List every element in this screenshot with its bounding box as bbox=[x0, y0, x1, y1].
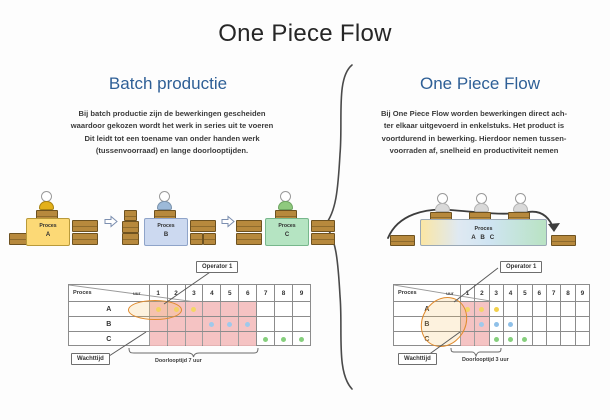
table-cell[interactable] bbox=[489, 317, 503, 331]
left-panel-paragraph: Bij batch productie zijn de bewerkingen … bbox=[22, 108, 322, 157]
cell-dot-marker bbox=[209, 322, 214, 327]
cell-dot-marker bbox=[227, 322, 232, 327]
table-column-header-8: 8 bbox=[274, 285, 292, 301]
table-cell[interactable] bbox=[517, 317, 531, 331]
crate-icon bbox=[203, 233, 216, 245]
cell-dot-marker bbox=[494, 337, 499, 342]
cell-dot-marker bbox=[299, 337, 304, 342]
process-box-a: Proces A bbox=[26, 218, 70, 246]
table-column-header-6: 6 bbox=[238, 285, 256, 301]
process-box-abc-label: Proces bbox=[475, 226, 493, 232]
table-column-header-7: 7 bbox=[256, 285, 274, 301]
table-cell[interactable] bbox=[532, 332, 546, 346]
table-cell[interactable] bbox=[532, 317, 546, 331]
right-paragraph-line-4: voorraden af, snelheid en productiviteit… bbox=[358, 145, 590, 157]
table-column-header-9: 9 bbox=[575, 285, 589, 301]
table-cell[interactable] bbox=[560, 317, 574, 331]
table-cell[interactable] bbox=[202, 332, 220, 346]
table-cell[interactable] bbox=[256, 302, 274, 316]
table-cell[interactable] bbox=[503, 317, 517, 331]
table-column-header-5: 5 bbox=[220, 285, 238, 301]
crate-icon bbox=[236, 233, 262, 245]
table-cell[interactable] bbox=[292, 332, 310, 346]
table-cell[interactable] bbox=[256, 332, 274, 346]
cell-dot-marker bbox=[245, 322, 250, 327]
cell-dot-marker bbox=[494, 307, 499, 312]
table-cell[interactable] bbox=[474, 332, 488, 346]
table-cell[interactable] bbox=[532, 302, 546, 316]
table-cell[interactable] bbox=[575, 317, 589, 331]
table-cell[interactable] bbox=[274, 302, 292, 316]
table-column-header-4: 4 bbox=[503, 285, 517, 301]
page-title: One Piece Flow bbox=[0, 20, 610, 48]
table-cell[interactable] bbox=[238, 332, 256, 346]
left-wachttijd-callout[interactable]: Wachttijd bbox=[71, 353, 110, 365]
crate-icon bbox=[72, 220, 98, 232]
table-cell[interactable] bbox=[292, 317, 310, 331]
table-column-header-7: 7 bbox=[546, 285, 560, 301]
table-cell[interactable] bbox=[575, 302, 589, 316]
left-operator-callout[interactable]: Operator 1 bbox=[196, 261, 238, 273]
table-cell[interactable] bbox=[560, 332, 574, 346]
left-paragraph-line-2: waardoor gekozen wordt het werk in serie… bbox=[22, 120, 322, 132]
crate-icon bbox=[190, 233, 203, 245]
cell-dot-marker bbox=[508, 322, 513, 327]
slide-canvas: One Piece Flow Batch productie Bij batch… bbox=[0, 0, 610, 420]
cell-dot-marker bbox=[479, 307, 484, 312]
worker-body-icon bbox=[278, 201, 293, 210]
worker-body-icon bbox=[435, 203, 450, 212]
process-box-b-value: B bbox=[145, 232, 187, 240]
table-column-header-8: 8 bbox=[560, 285, 574, 301]
right-panel-paragraph: Bij One Piece Flow worden bewerkingen di… bbox=[358, 108, 590, 157]
cell-dot-marker bbox=[191, 307, 196, 312]
table-cell[interactable] bbox=[560, 302, 574, 316]
right-leadtime-caption: Doorlooptijd 3 uur bbox=[462, 357, 509, 363]
table-unit-label: uur bbox=[125, 285, 149, 301]
table-corner-label: Proces bbox=[394, 285, 440, 301]
cell-dot-marker bbox=[508, 337, 513, 342]
process-box-b: Proces B bbox=[144, 218, 188, 246]
left-paragraph-line-1: Bij batch productie zijn de bewerkingen … bbox=[22, 108, 322, 120]
table-column-header-5: 5 bbox=[517, 285, 531, 301]
table-cell[interactable] bbox=[489, 332, 503, 346]
table-row-label-B: B bbox=[69, 317, 149, 331]
cell-dot-marker bbox=[522, 337, 527, 342]
table-cell[interactable] bbox=[474, 302, 488, 316]
table-cell[interactable] bbox=[256, 317, 274, 331]
table-cell[interactable] bbox=[238, 302, 256, 316]
table-column-header-9: 9 bbox=[292, 285, 310, 301]
worker-body-icon bbox=[39, 201, 54, 210]
right-paragraph-line-3: voortdurend in bewerking. Hierdoor nemen… bbox=[358, 133, 590, 145]
crate-icon bbox=[311, 233, 335, 245]
process-box-b-label: Proces bbox=[145, 223, 187, 231]
table-cell[interactable] bbox=[185, 332, 203, 346]
left-paragraph-line-4: (tussenvoorraad) en lange doorlooptijden… bbox=[22, 145, 322, 157]
cell-dot-marker bbox=[494, 322, 499, 327]
crate-icon bbox=[190, 220, 216, 232]
crate-icon bbox=[551, 235, 576, 246]
table-cell[interactable] bbox=[489, 302, 503, 316]
process-box-a-label: Proces bbox=[27, 223, 69, 231]
table-cell[interactable] bbox=[292, 302, 310, 316]
process-box-abc-value: A B C bbox=[421, 234, 546, 242]
table-cell[interactable] bbox=[517, 332, 531, 346]
flow-arrow-icon bbox=[221, 215, 235, 228]
left-paragraph-line-3: Dit leidt tot een toename van onder hand… bbox=[22, 133, 322, 145]
cell-dot-marker bbox=[281, 337, 286, 342]
table-cell[interactable] bbox=[202, 317, 220, 331]
crate-icon bbox=[311, 220, 335, 232]
table-cell[interactable] bbox=[220, 332, 238, 346]
table-cell[interactable] bbox=[220, 317, 238, 331]
left-leadtime-caption: Doorlooptijd 7 uur bbox=[155, 358, 202, 364]
right-leadtime-bracket bbox=[450, 347, 502, 357]
table-cell[interactable] bbox=[546, 302, 560, 316]
table-cell[interactable] bbox=[546, 317, 560, 331]
table-cell[interactable] bbox=[503, 302, 517, 316]
table-cell[interactable] bbox=[503, 332, 517, 346]
process-box-a-value: A bbox=[27, 232, 69, 240]
table-cell[interactable] bbox=[167, 317, 185, 331]
process-box-c: Proces C bbox=[265, 218, 309, 246]
worker-body-icon bbox=[513, 203, 528, 212]
right-operator-callout[interactable]: Operator 1 bbox=[500, 261, 542, 273]
crate-icon bbox=[122, 233, 139, 245]
table-cell[interactable] bbox=[274, 332, 292, 346]
table-cell[interactable] bbox=[149, 332, 167, 346]
process-box-c-label: Proces bbox=[266, 223, 308, 231]
crate-icon bbox=[72, 233, 98, 245]
table-cell[interactable] bbox=[274, 317, 292, 331]
table-cell[interactable] bbox=[546, 332, 560, 346]
process-box-abc: Proces A B C bbox=[420, 219, 547, 246]
table-cell[interactable] bbox=[517, 302, 531, 316]
table-cell[interactable] bbox=[238, 317, 256, 331]
flow-arrow-icon bbox=[104, 215, 118, 228]
left-leadtime-bracket bbox=[128, 347, 259, 358]
right-operator-leader-line bbox=[450, 266, 502, 304]
cell-dot-marker bbox=[479, 322, 484, 327]
worker-body-icon bbox=[474, 203, 489, 212]
right-wachttijd-callout[interactable]: Wachttijd bbox=[398, 353, 437, 365]
table-cell[interactable] bbox=[185, 317, 203, 331]
crate-icon bbox=[122, 221, 139, 233]
table-cell[interactable] bbox=[220, 302, 238, 316]
table-cell[interactable] bbox=[474, 317, 488, 331]
crate-icon bbox=[124, 210, 137, 221]
crate-icon bbox=[390, 235, 415, 246]
table-cell[interactable] bbox=[575, 332, 589, 346]
right-paragraph-line-1: Bij One Piece Flow worden bewerkingen di… bbox=[358, 108, 590, 120]
right-paragraph-line-2: ter elkaar uitgevoerd in enkelstuks. Het… bbox=[358, 120, 590, 132]
table-column-header-6: 6 bbox=[532, 285, 546, 301]
left-panel-heading: Batch productie bbox=[28, 74, 308, 94]
process-box-c-value: C bbox=[266, 232, 308, 240]
table-cell[interactable] bbox=[167, 332, 185, 346]
table-corner-label: Proces bbox=[69, 285, 125, 301]
crate-icon bbox=[236, 220, 262, 232]
table-row[interactable]: B bbox=[69, 316, 310, 331]
right-panel-heading: One Piece Flow bbox=[340, 74, 610, 94]
worker-body-icon bbox=[157, 201, 172, 210]
cell-dot-marker bbox=[263, 337, 268, 342]
